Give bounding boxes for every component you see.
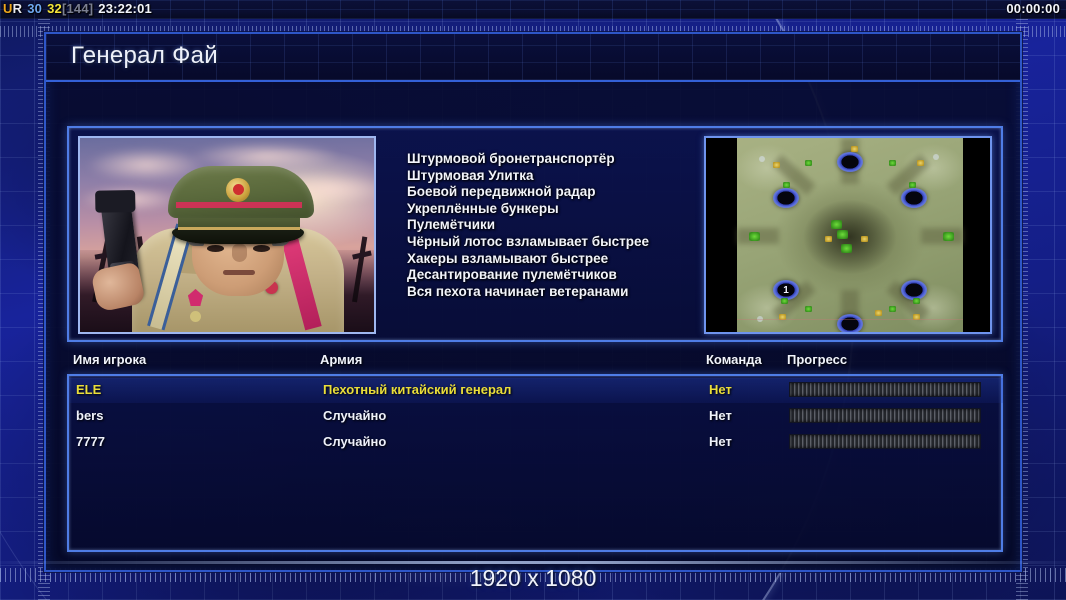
ur-r-label: R [13,1,23,16]
general-abilities-list: Штурмовой бронетранспортёр Штурмовая Ули… [407,151,707,300]
player-name[interactable]: bers [76,408,103,423]
map-supply-dock [831,220,842,229]
player-army[interactable]: Случайно [323,434,386,449]
map-oil-derrick [773,162,780,168]
column-header-progress[interactable]: Прогресс [787,352,847,367]
ability-item: Хакеры взламывают быстрее [407,251,707,268]
column-header-team[interactable]: Команда [706,352,762,367]
map-start-position [773,188,799,208]
cap-stripe [176,202,302,208]
map-oil-derrick [851,146,858,152]
value-two: 32 [47,1,62,16]
map-preview[interactable]: 1 [704,136,992,334]
map-supply-dock [805,160,812,166]
ability-item: Штурмовая Улитка [407,168,707,185]
map-supply-dock [841,244,852,253]
map-start-position [837,314,863,334]
column-header-army[interactable]: Армия [320,352,362,367]
value-one: 30 [27,1,42,16]
map-supply-dock [837,230,848,239]
ability-item: Вся пехота начинает ветеранами [407,284,707,301]
top-status-bar: UR3032[144]23:22:01 00:00:00 [0,0,1066,19]
table-row[interactable]: 7777 Случайно Нет [71,430,1001,455]
player-team[interactable]: Нет [709,382,732,397]
portrait-mouth [223,270,255,275]
player-team[interactable]: Нет [709,408,732,423]
bracket-value: [144] [62,1,93,16]
map-oil-derrick [825,236,832,242]
map-player-number: 1 [783,285,789,296]
map-supply-dock [889,306,896,312]
resolution-label: 1920 x 1080 [0,565,1066,592]
map-supply-dock [943,232,954,241]
ur-u-label: U [3,1,13,16]
player-progress-bar [789,382,981,397]
cap-badge-icon [226,178,250,202]
medal-icon [190,311,201,322]
map-supply-dock [783,182,790,188]
map-prop [759,156,765,162]
map-supply-dock [781,298,788,304]
page-title: Генерал Фай [71,42,218,70]
map-oil-derrick [875,310,882,316]
player-progress-bar [789,408,981,423]
status-right-group: 00:00:00 [1006,1,1060,16]
map-supply-dock [749,232,760,241]
window-title-bar: Генерал Фай [46,34,1020,82]
portrait-eye [253,245,270,252]
map-supply-dock [889,160,896,166]
resolution-footer: 1920 x 1080 [0,557,1066,600]
player-progress-bar [789,434,981,449]
player-list-header: Имя игрока Армия Команда Прогресс [67,352,1003,374]
portrait-nose [232,244,247,262]
player-list-panel: ELE Пехотный китайский генерал Нет bers … [67,374,1003,552]
map-prop [933,154,939,160]
desktop-background: Генерал Фай [0,19,1066,600]
player-army[interactable]: Случайно [323,408,386,423]
ability-item: Штурмовой бронетранспортёр [407,151,707,168]
column-header-name[interactable]: Имя игрока [73,352,146,367]
map-start-position [837,152,863,172]
general-info-panel: Штурмовой бронетранспортёр Штурмовая Ули… [67,126,1003,342]
map-oil-derrick [917,160,924,166]
player-army[interactable]: Пехотный китайский генерал [323,382,511,397]
footer-divider [0,561,1066,564]
general-portrait [78,136,376,334]
status-left-group: UR3032[144]23:22:01 [3,1,152,16]
player-team[interactable]: Нет [709,434,732,449]
portrait-eye [207,245,224,252]
ability-item: Пулемётчики [407,217,707,234]
ability-item: Чёрный лотос взламывает быстрее [407,234,707,251]
player-name[interactable]: ELE [76,382,101,397]
clock-left: 23:22:01 [98,1,152,16]
map-road [921,228,963,244]
ability-item: Десантирование пулемётчиков [407,267,707,284]
table-row[interactable]: ELE Пехотный китайский генерал Нет [71,378,1001,403]
clock-right: 00:00:00 [1006,1,1060,16]
map-start-position-player: 1 [773,280,799,300]
map-oil-derrick [861,236,868,242]
table-row[interactable]: bers Случайно Нет [71,404,1001,429]
main-window-frame: Генерал Фай [44,32,1022,572]
map-boundary-line [737,319,963,320]
map-supply-dock [805,306,812,312]
player-name[interactable]: 7777 [76,434,105,449]
map-start-position [901,280,927,300]
ability-item: Укреплённые бункеры [407,201,707,218]
map-supply-dock [909,182,916,188]
map-start-position [901,188,927,208]
map-terrain: 1 [737,138,963,332]
ability-item: Боевой передвижной радар [407,184,707,201]
map-supply-dock [913,298,920,304]
